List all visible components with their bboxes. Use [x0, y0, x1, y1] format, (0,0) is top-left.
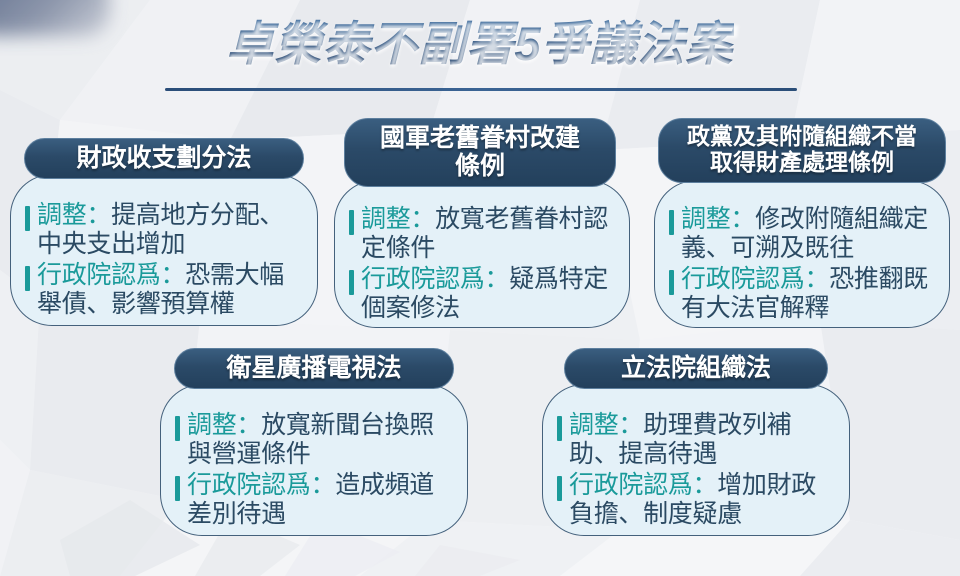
card-bullet: 行政院認爲：恐需大幅舉債、影響預算權 — [25, 261, 301, 320]
card-bullet: 調整：提高地方分配、中央支出增加 — [25, 201, 301, 260]
law-card-legislative-yuan-org-act: 調整：助理費改列補助、提高待遇 行政院認爲：增加財政負擔、制度疑慮 立法院組織法 — [540, 348, 852, 540]
bullet-tag: 調整： — [37, 201, 111, 229]
card-bullet: 行政院認爲：增加財政負擔、制度疑慮 — [557, 471, 833, 530]
card-bullet: 調整：助理費改列補助、提高待遇 — [557, 411, 833, 470]
card-body: 調整：放寬新聞台換照與營運條件 行政院認爲：造成頻道差別待遇 — [160, 384, 468, 536]
title-underline — [165, 88, 797, 91]
law-card-satellite-broadcasting-act: 調整：放寬新聞台換照與營運條件 行政院認爲：造成頻道差別待遇 衛星廣播電視法 — [158, 348, 470, 540]
bullet-tag: 行政院認爲： — [569, 471, 717, 499]
law-card-military-village-rebuild-act: 調整：放寬老舊眷村認定條件 行政院認爲：疑爲特定個案修法 國軍老舊眷村改建 條例 — [332, 118, 632, 328]
card-title: 衛星廣播電視法 — [174, 348, 454, 389]
card-title: 財政收支劃分法 — [24, 138, 304, 179]
bullet-tag: 行政院認爲： — [681, 265, 829, 293]
bullet-tag: 調整： — [187, 411, 261, 439]
card-bullet: 行政院認爲：恐推翻既有大法官解釋 — [669, 265, 933, 324]
card-bullet: 行政院認爲：疑爲特定個案修法 — [349, 265, 613, 324]
card-body: 調整：放寬老舊眷村認定條件 行政院認爲：疑爲特定個案修法 — [334, 180, 630, 328]
bullet-tag: 行政院認爲： — [361, 265, 509, 293]
card-title: 國軍老舊眷村改建 條例 — [344, 118, 616, 187]
card-body: 調整：提高地方分配、中央支出增加 行政院認爲：恐需大幅舉債、影響預算權 — [10, 174, 318, 326]
card-title: 政黨及其附隨組織不當 取得財產處理條例 — [658, 118, 946, 183]
bullet-tag: 調整： — [569, 411, 643, 439]
card-bullet: 調整：修改附隨組織定義、可溯及既往 — [669, 205, 933, 264]
card-bullet: 調整：放寬老舊眷村認定條件 — [349, 205, 613, 264]
card-body: 調整：助理費改列補助、提高待遇 行政院認爲：增加財政負擔、制度疑慮 — [542, 384, 850, 536]
bullet-tag: 調整： — [361, 205, 435, 233]
card-bullet: 行政院認爲：造成頻道差別待遇 — [175, 471, 451, 530]
bullet-tag: 調整： — [681, 205, 755, 233]
bullet-tag: 行政院認爲： — [37, 261, 185, 289]
bullet-tag: 行政院認爲： — [187, 471, 335, 499]
card-bullet: 調整：放寬新聞台換照與營運條件 — [175, 411, 451, 470]
page-title: 卓榮泰不副署5爭議法案 — [226, 18, 733, 70]
law-card-fiscal-allocation-act: 調整：提高地方分配、中央支出增加 行政院認爲：恐需大幅舉債、影響預算權 財政收支… — [8, 138, 320, 328]
card-body: 調整：修改附隨組織定義、可溯及既往 行政院認爲：恐推翻既有大法官解釋 — [654, 180, 950, 328]
card-title: 立法院組織法 — [564, 348, 828, 389]
law-card-party-assets-act: 調整：修改附隨組織定義、可溯及既往 行政院認爲：恐推翻既有大法官解釋 政黨及其附… — [652, 118, 952, 328]
page-title-wrapper: 卓榮泰不副署5爭議法案 — [0, 18, 960, 70]
